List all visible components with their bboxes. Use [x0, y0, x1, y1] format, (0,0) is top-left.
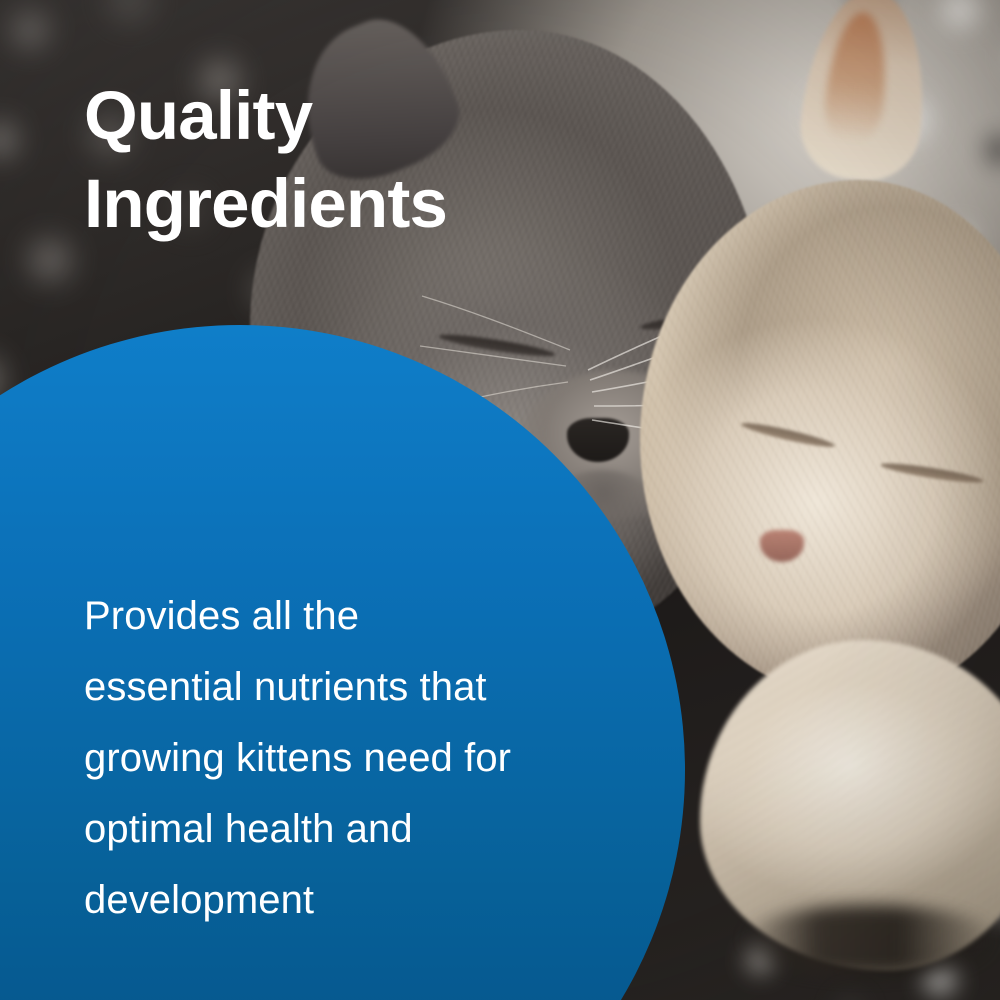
body-copy-line-5: development — [84, 865, 644, 936]
body-copy: Provides all the essential nutrients tha… — [84, 581, 644, 936]
body-copy-line-4: optimal health and — [84, 794, 644, 865]
body-copy-line-1: Provides all the — [84, 581, 644, 652]
promo-card: Quality Ingredients Provides all the ess… — [0, 0, 1000, 1000]
headline-line-1: Quality — [84, 72, 784, 160]
page-title: Quality Ingredients — [84, 72, 784, 248]
headline-line-2: Ingredients — [84, 160, 784, 248]
body-copy-line-2: essential nutrients that — [84, 652, 644, 723]
body-copy-line-3: growing kittens need for — [84, 723, 644, 794]
